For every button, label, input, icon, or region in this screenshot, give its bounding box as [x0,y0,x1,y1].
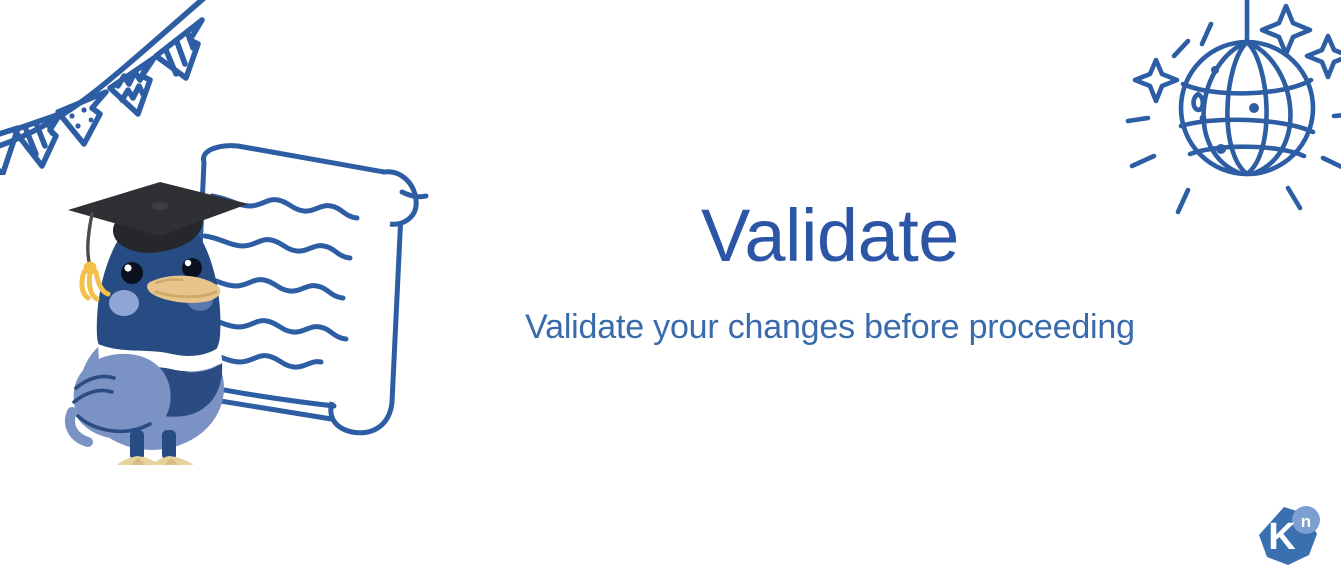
bird-mascot [67,182,248,465]
kaholo-logo[interactable]: K n [1253,501,1325,573]
hero-copy-block: Validate Validate your changes before pr… [470,198,1190,348]
disco-ball-icon [1118,0,1341,227]
logo-letter-n: n [1301,512,1311,531]
page-subtitle: Validate your changes before proceeding [470,307,1190,347]
graduate-bird-with-scroll-illustration [52,140,462,465]
page-title: Validate [470,198,1190,273]
logo-letter-k: K [1268,516,1296,558]
certificate-scroll-icon [192,146,426,433]
page-canvas: Validate Validate your changes before pr… [0,0,1341,585]
party-bunting-icon [0,0,224,175]
